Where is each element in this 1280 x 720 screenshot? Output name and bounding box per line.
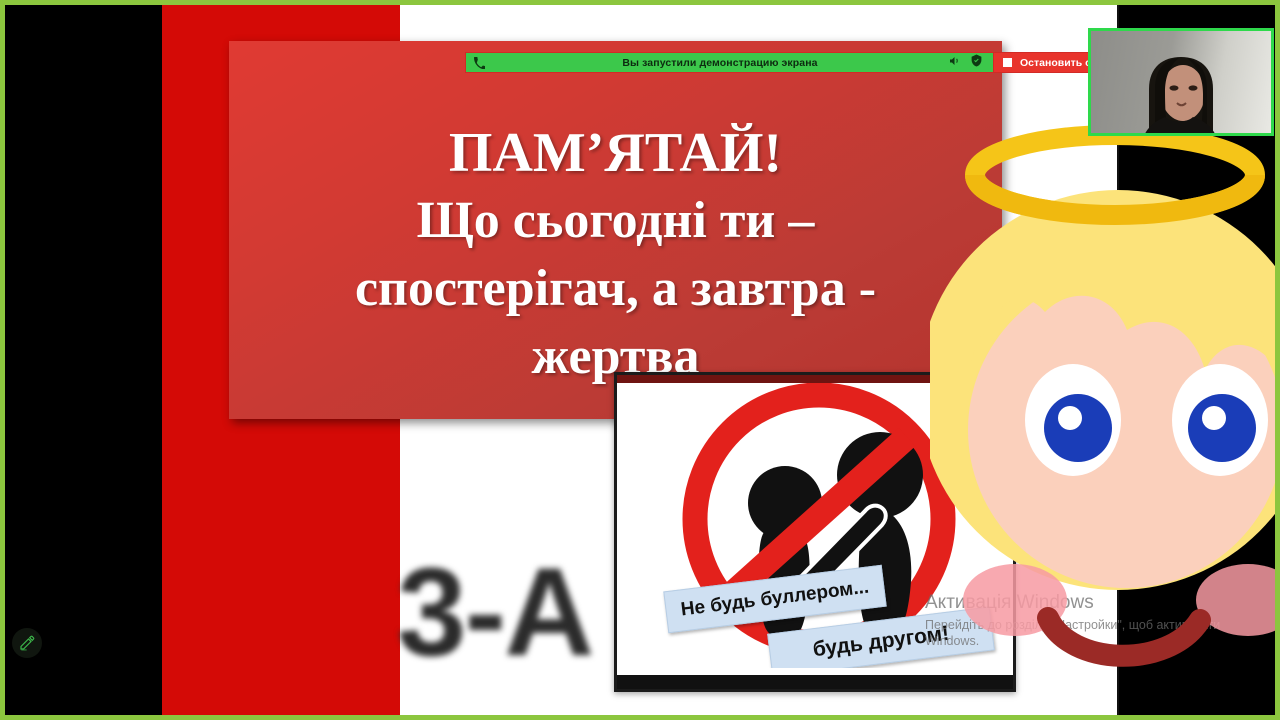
slide-left-letterbox xyxy=(5,5,162,715)
headline-line-3: спостерігач, а завтра - xyxy=(229,255,1002,323)
slide-title-panel: Вы запустили демонстрацию экрана xyxy=(229,41,1002,419)
headline-line-2: Що сьогодні ти – xyxy=(229,187,1002,255)
shield-icon[interactable] xyxy=(970,54,983,72)
annotate-button[interactable] xyxy=(12,628,42,658)
class-label: 3-А xyxy=(397,550,627,675)
poster-top-strip xyxy=(617,375,1013,383)
poster-stage: Не будь буллером... будь другом! xyxy=(617,383,1013,668)
anti-bullying-poster: Не будь буллером... будь другом! xyxy=(614,372,1016,692)
stop-square-icon xyxy=(1003,58,1012,67)
share-status-bar[interactable]: Вы запустили демонстрацию экрана xyxy=(465,52,994,73)
pencil-icon xyxy=(19,635,35,651)
screen-share-view: 3-А Вы запустили демонстрацию экрана xyxy=(0,0,1280,720)
headline-line-1: ПАМ’ЯТАЙ! xyxy=(229,119,1002,187)
poster-sign-bottom-text: будь другом! xyxy=(812,622,951,663)
phone-icon[interactable] xyxy=(466,57,492,69)
poster-bottom-strip xyxy=(617,675,1013,689)
participant-video-thumbnail[interactable] xyxy=(1088,28,1274,136)
speaker-icon[interactable] xyxy=(948,54,961,72)
participant-avatar xyxy=(1121,55,1241,136)
slide-headline: ПАМ’ЯТАЙ! Що сьогодні ти – спостерігач, … xyxy=(229,119,1002,391)
share-status-label: Вы запустили демонстрацию экрана xyxy=(492,57,948,69)
